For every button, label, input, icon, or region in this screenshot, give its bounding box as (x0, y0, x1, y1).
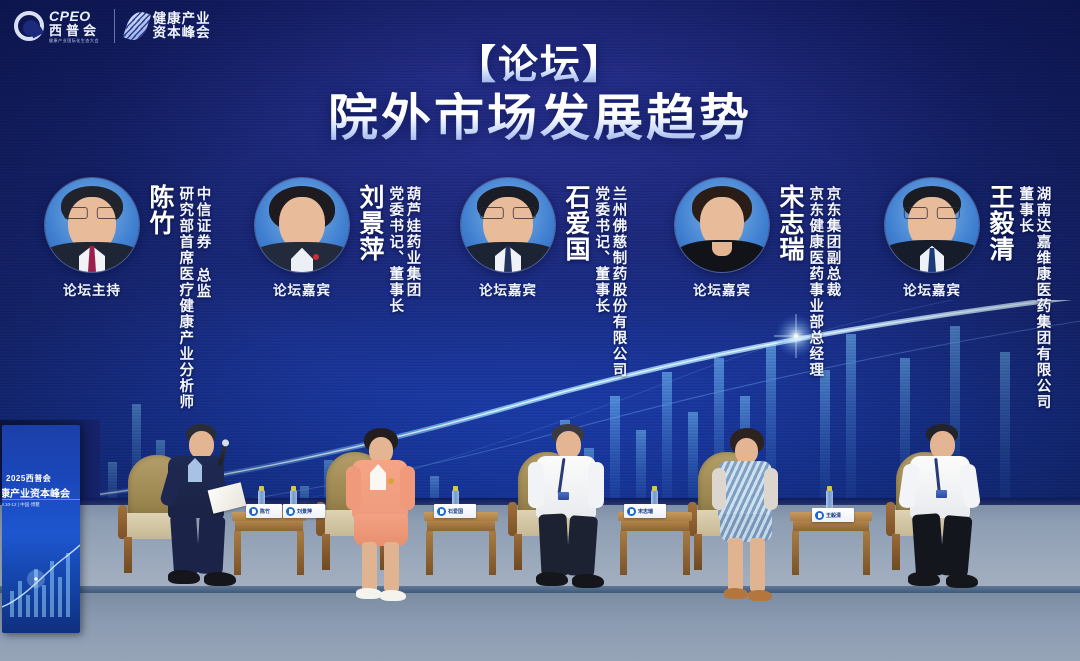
panelist-graphics-row: 论坛主持 陈竹 研究部首席医疗健康产业分析师 中信证券 总监 论坛嘉宾 刘景萍 (0, 178, 1080, 428)
panelist-affiliation-4-line-1: 湖南达嘉维康医药集团有限公司 (1034, 186, 1049, 410)
panelist-affiliation-1: 党委书记、董事长 葫芦娃药业集团 (385, 186, 419, 314)
handheld-microphone (217, 444, 227, 467)
panelist-photo-col-1: 论坛嘉宾 (252, 178, 352, 299)
headshot-chen-zhu-icon (45, 178, 139, 272)
panelist-affiliation-1-line-1: 葫芦娃药业集团 (404, 186, 419, 314)
nameplate-logo-icon-2 (437, 507, 446, 516)
summit-logo-text: 健康产业 资本峰会 (153, 12, 211, 40)
cpeo-logo-text: CPEO 西普会 健康产业国际化生态大会 (49, 9, 102, 43)
side-table-1 (424, 512, 498, 576)
nameplate-1: 刘景萍 (283, 504, 325, 518)
nameplate-text-4: 王毅清 (826, 512, 841, 519)
panelist-affiliation-2-line-1: 兰州佛慈制药股份有限公司 (610, 186, 625, 378)
cpeo-logo: CPEO 西普会 健康产业国际化生态大会 (14, 9, 102, 43)
panelist-affiliation-4: 董事长 湖南达嘉维康医药集团有限公司 (1015, 186, 1049, 410)
panelist-role-1: 论坛嘉宾 (273, 279, 331, 299)
panelist-photo-col-3: 论坛嘉宾 (672, 178, 772, 299)
cpeo-latin: CPEO (49, 9, 102, 23)
panelist-affiliation-3-line-0: 京东健康医药事业部总经理 (807, 186, 822, 378)
nameplate-logo-icon-4 (815, 511, 824, 520)
panelist-card-1: 论坛嘉宾 刘景萍 党委书记、董事长 葫芦娃药业集团 (252, 178, 419, 314)
cpeo-chinese: 西普会 (49, 24, 102, 37)
banner-rule (2, 499, 80, 500)
panelist-name-1: 刘景萍 (357, 184, 382, 262)
panelist-affiliation-3: 京东健康医药事业部总经理 京东集团副总裁 (805, 186, 839, 378)
presentation-screenshot: CPEO 西普会 健康产业国际化生态大会 健康产业 资本峰会 【论坛】 院外市场… (0, 0, 1080, 661)
panelist-affiliation-0: 研究部首席医疗健康产业分析师 中信证券 总监 (175, 186, 209, 410)
badge-card-2 (936, 490, 947, 498)
banner-line-2: 健康产业资本峰会 (2, 485, 70, 500)
nameplate-text-1: 刘景萍 (297, 508, 312, 515)
headshot-liu-jingping-icon (255, 178, 349, 272)
stage-person-song-zhirui (704, 428, 800, 624)
panelist-name-3: 宋志瑞 (777, 184, 802, 262)
panelist-affiliation-1-line-0: 党委书记、董事长 (387, 186, 402, 314)
side-table-2 (618, 512, 692, 576)
panelist-role-2: 论坛嘉宾 (479, 279, 537, 299)
logo-divider (114, 9, 115, 43)
panelist-role-0: 论坛主持 (63, 279, 121, 299)
summit-logo: 健康产业 资本峰会 (127, 11, 211, 41)
panelist-affiliation-0-line-0: 研究部首席医疗健康产业分析师 (177, 186, 192, 410)
rollup-banner: 2025西普会 健康产业资本峰会 2025.8.10-12 | 中国·博鳌 (2, 425, 80, 633)
panelist-card-0: 论坛主持 陈竹 研究部首席医疗健康产业分析师 中信证券 总监 (42, 178, 209, 410)
panelist-card-3: 论坛嘉宾 宋志瑞 京东健康医药事业部总经理 京东集团副总裁 (672, 178, 839, 378)
nameplate-4: 王毅清 (812, 508, 854, 522)
nameplate-2: 石爱国 (434, 504, 476, 518)
title-line-1: 【论坛】 (0, 44, 1080, 86)
summit-line1: 健康产业 (153, 12, 211, 26)
panelist-photo-col-4: 论坛嘉宾 (882, 178, 982, 299)
panelist-affiliation-0-line-1: 中信证券 总监 (194, 186, 209, 410)
nameplate-text-0: 陈竹 (260, 508, 270, 515)
panelist-card-2: 论坛嘉宾 石爱国 党委书记、董事长 兰州佛慈制药股份有限公司 (458, 178, 625, 378)
headshot-wang-yiqing-icon (885, 178, 979, 272)
panelist-role-4: 论坛嘉宾 (903, 279, 961, 299)
panelist-name-4: 王毅清 (987, 184, 1012, 262)
badge-card (558, 492, 569, 500)
banner-line-3: 2025.8.10-12 | 中国·博鳌 (2, 502, 40, 508)
banner-line-1: 2025西普会 (6, 473, 51, 484)
nameplate-logo-icon-3 (627, 507, 636, 516)
headshot-shi-aiguo-icon (461, 178, 555, 272)
cpeo-ring-logo-icon (14, 11, 44, 41)
nameplate-logo-icon-1 (286, 507, 295, 516)
banner-chart-graphic (2, 533, 80, 625)
panelist-affiliation-3-line-1: 京东集团副总裁 (824, 186, 839, 378)
stage-person-chen-zhu (150, 424, 260, 624)
stage-person-shi-aiguo (522, 424, 626, 624)
nameplate-3: 宋志瑞 (624, 504, 666, 518)
cpeo-subtitle: 健康产业国际化生态大会 (49, 39, 99, 43)
panelist-photo-col-2: 论坛嘉宾 (458, 178, 558, 299)
panelist-affiliation-2-line-0: 党委书记、董事长 (593, 186, 608, 378)
panelist-affiliation-4-line-0: 董事长 (1017, 186, 1032, 410)
panelist-affiliation-2: 党委书记、董事长 兰州佛慈制药股份有限公司 (591, 186, 625, 378)
panelist-card-4: 论坛嘉宾 王毅清 董事长 湖南达嘉维康医药集团有限公司 (882, 178, 1049, 410)
nameplate-text-2: 石爱国 (448, 508, 463, 515)
summit-line2: 资本峰会 (153, 26, 211, 40)
panelist-name-2: 石爱国 (563, 184, 588, 262)
stage-person-liu-jingping (338, 428, 434, 624)
forum-title: 【论坛】 院外市场发展趋势 (0, 44, 1080, 145)
panelist-photo-col-0: 论坛主持 (42, 178, 142, 299)
leaf-icon (123, 9, 151, 44)
panelist-name-0: 陈竹 (147, 184, 172, 236)
nameplate-text-3: 宋志瑞 (638, 508, 653, 515)
headshot-song-zhirui-icon (675, 178, 769, 272)
header-logo-bar: CPEO 西普会 健康产业国际化生态大会 健康产业 资本峰会 (14, 4, 211, 48)
title-line-2: 院外市场发展趋势 (0, 92, 1080, 145)
stage-person-wang-yiqing (896, 424, 1002, 624)
panelist-role-3: 论坛嘉宾 (693, 279, 751, 299)
